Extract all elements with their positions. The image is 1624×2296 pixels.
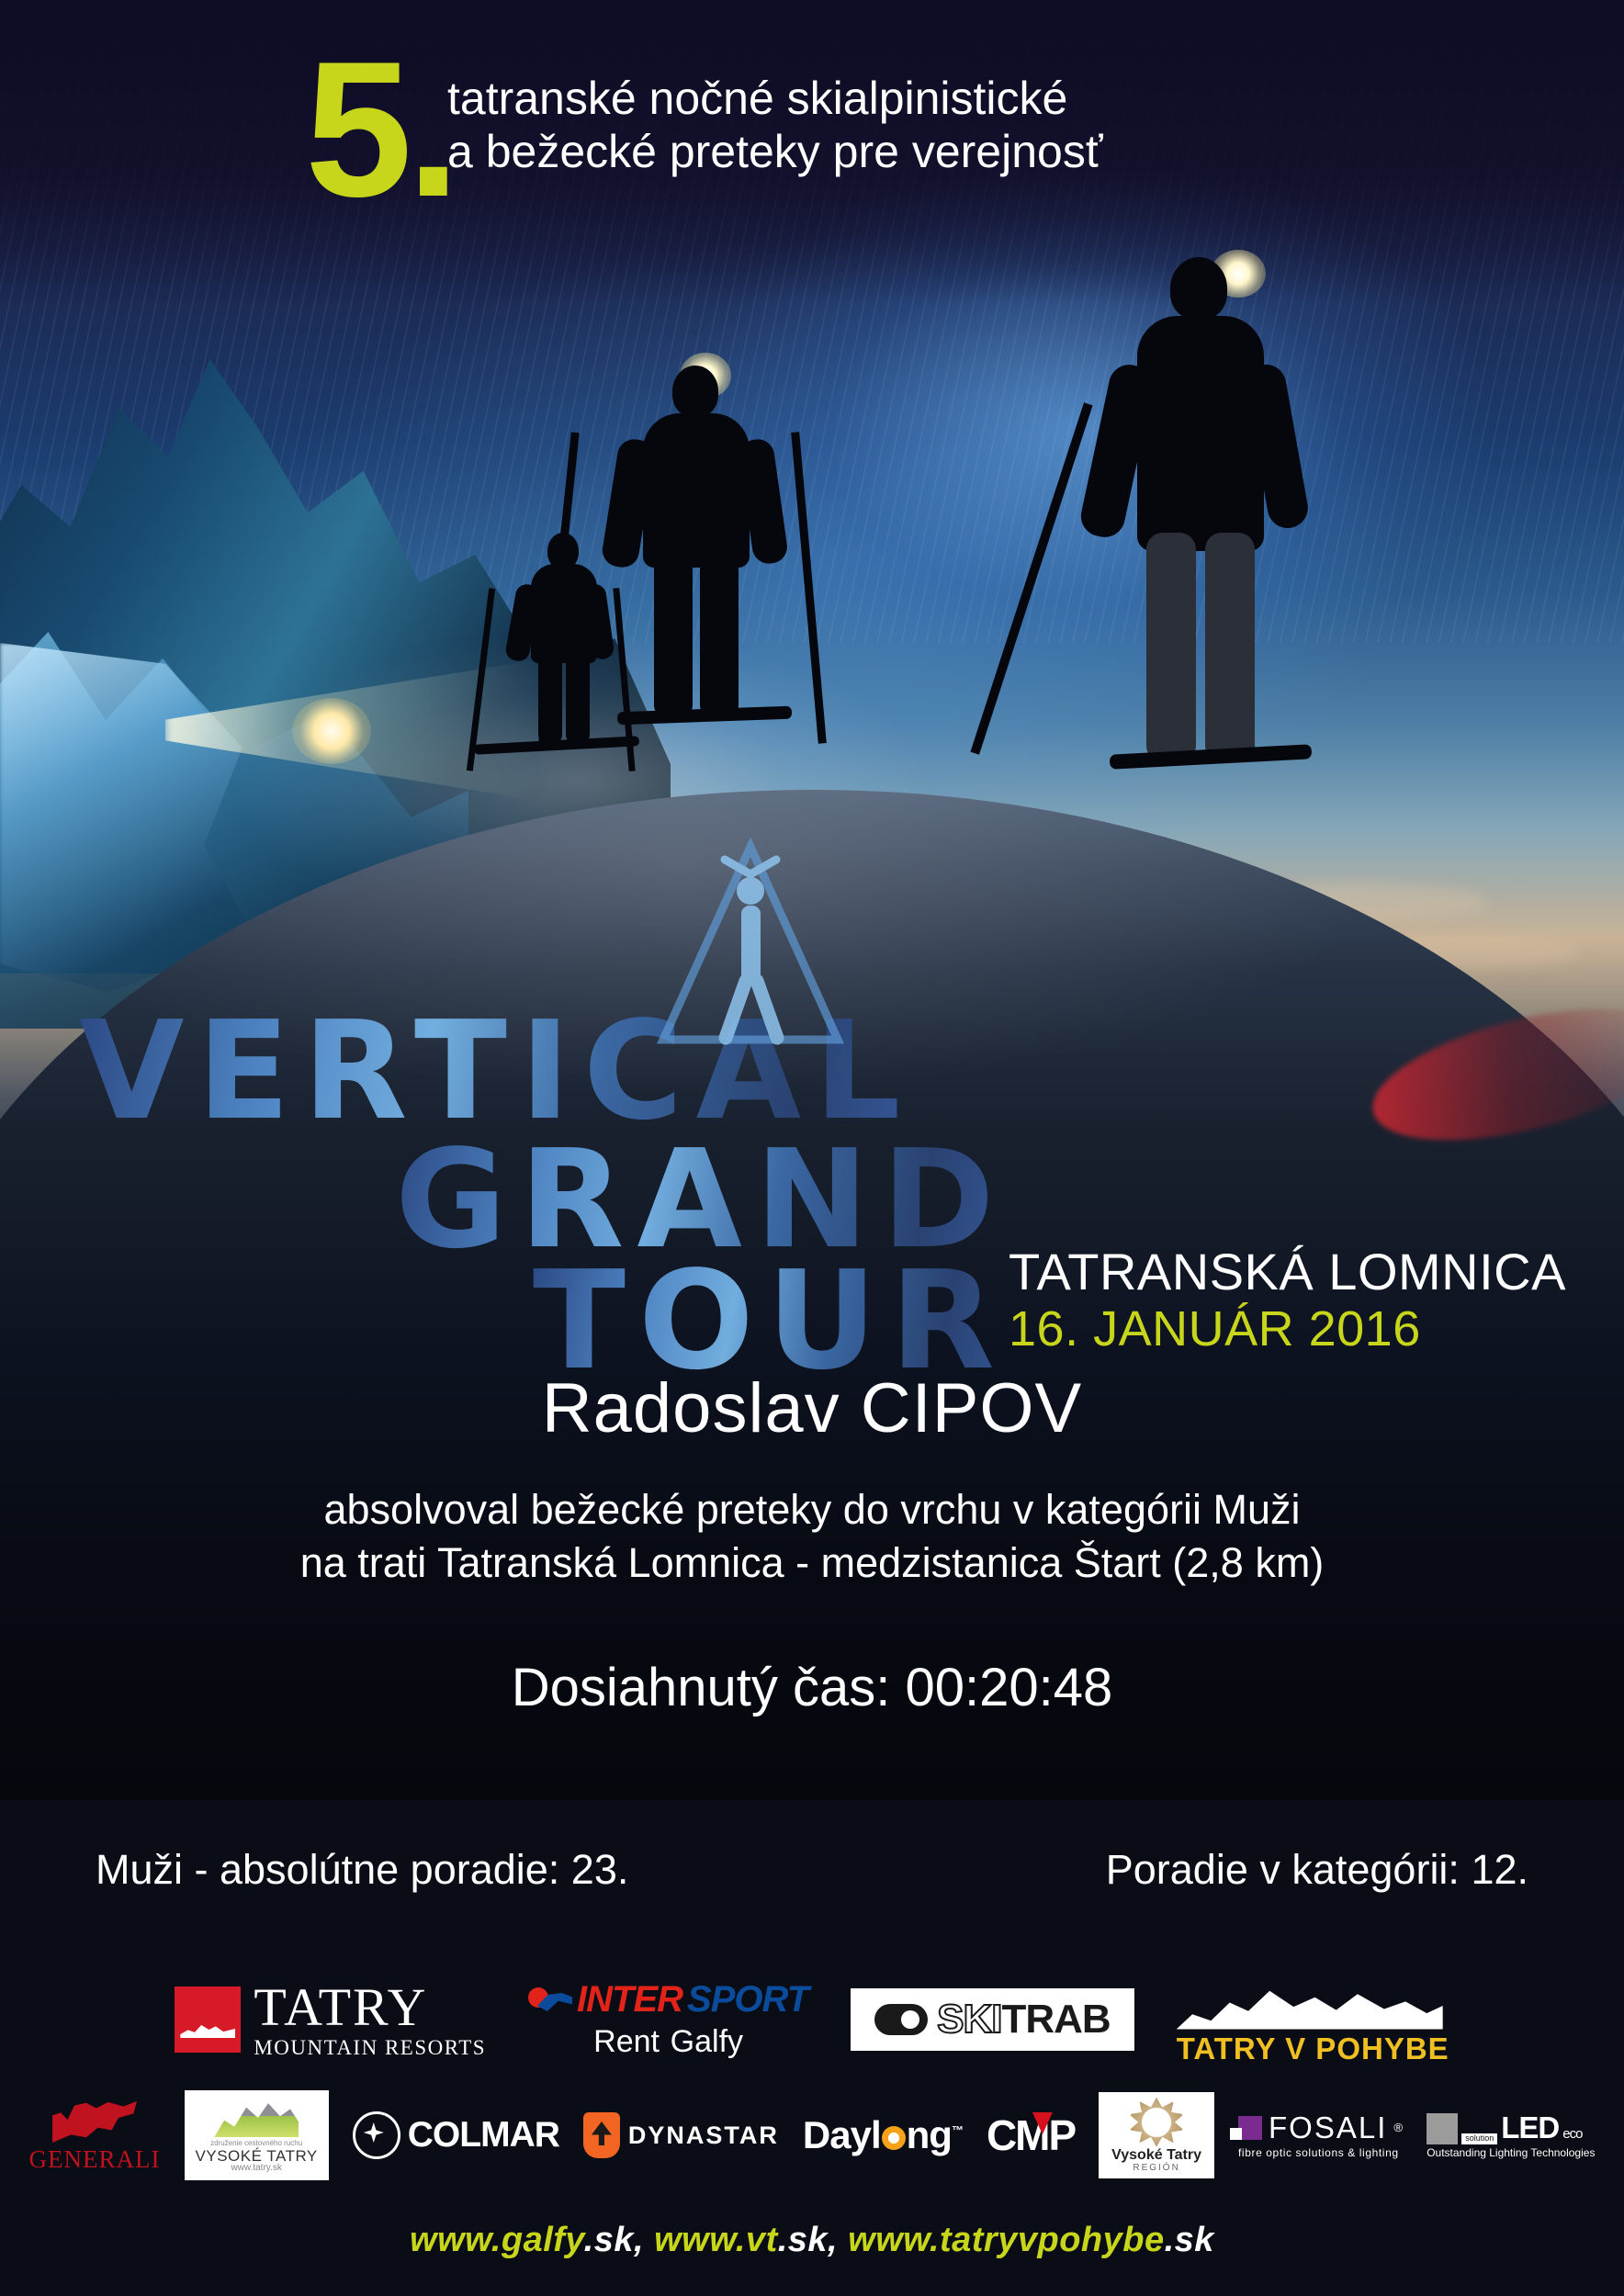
skitrab-ski: SKI bbox=[937, 1997, 1001, 2042]
colmar-title: COLMAR bbox=[408, 2115, 559, 2155]
athlete-name: Radoslav CIPOV bbox=[0, 1368, 1624, 1448]
edelweiss-icon bbox=[1128, 2098, 1185, 2147]
sponsor-generali[interactable]: GENERALI bbox=[29, 2099, 161, 2172]
site-tatryvpohybe-tld: .sk bbox=[1165, 2221, 1214, 2259]
tvp-mountain-icon bbox=[1177, 1976, 1443, 2030]
result-description-line-2: na trati Tatranská Lomnica - medzistanic… bbox=[0, 1536, 1624, 1590]
fosali-reg: ® bbox=[1393, 2122, 1403, 2135]
sponsor-led-eco[interactable]: solution LEDeco Outstanding Lighting Tec… bbox=[1427, 2111, 1595, 2159]
led-grey-square-icon bbox=[1427, 2113, 1458, 2144]
sponsor-intersport-rent-galfy[interactable]: INTERSPORT Rent Galfy bbox=[528, 1981, 808, 2058]
vtr-title: Vysoké Tatry bbox=[1111, 2147, 1201, 2164]
daylong-sun-icon bbox=[882, 2126, 906, 2150]
footer-websites: www.galfy.sk, www.vt.sk, www.tatryvpohyb… bbox=[0, 2221, 1624, 2260]
tmr-subtitle: MOUNTAIN RESORTS bbox=[254, 2037, 486, 2058]
sponsor-vysoke-tatry-region[interactable]: Vysoké Tatry REGIÓN bbox=[1099, 2092, 1214, 2179]
sponsor-colmar[interactable]: COLMAR bbox=[353, 2111, 559, 2159]
site-vt[interactable]: www.vt bbox=[654, 2221, 778, 2259]
sponsor-row-2: GENERALI združenie cestovného ruchu VYSO… bbox=[0, 2087, 1624, 2184]
intersport-swoosh-icon bbox=[528, 1987, 572, 2011]
headline: tatranské nočné skialpinistické a bežeck… bbox=[447, 72, 1329, 178]
sponsor-cmp[interactable]: CMP bbox=[987, 2110, 1075, 2160]
sponsor-vysoke-tatry[interactable]: združenie cestovného ruchu VYSOKÉ TATRY … bbox=[185, 2090, 329, 2180]
sponsor-ski-trab[interactable]: SKITRAB bbox=[851, 1988, 1134, 2051]
result-block: Radoslav CIPOV absolvoval bežecké pretek… bbox=[0, 1368, 1624, 1718]
rank-category: Poradie v kategórii: 12. bbox=[1106, 1846, 1528, 1894]
generali-title: GENERALI bbox=[29, 2147, 161, 2172]
headline-line-1: tatranské nočné skialpinistické bbox=[447, 72, 1329, 125]
headlamp-glow bbox=[292, 698, 371, 764]
sponsor-daylong[interactable]: Daylng™ bbox=[803, 2113, 963, 2157]
led-title: LED bbox=[1501, 2111, 1559, 2144]
dynastar-title: DYNASTAR bbox=[628, 2122, 779, 2150]
sponsor-tatry-v-pohybe[interactable]: TATRY V POHYBE bbox=[1177, 1976, 1449, 2064]
climber-triangle-mark bbox=[654, 838, 847, 1049]
intersport-inter: INTER bbox=[577, 1981, 682, 2018]
daylong-part-a: Dayl bbox=[803, 2113, 881, 2156]
event-location: TATRANSKÁ LOMNICA bbox=[1009, 1242, 1566, 1301]
skitrab-trab: TRAB bbox=[1001, 1997, 1110, 2042]
vysoke-tatry-url: www.tatry.sk bbox=[196, 2164, 318, 2174]
sponsor-row-1: TATRY MOUNTAIN RESORTS INTERSPORT Rent G… bbox=[0, 1965, 1624, 2074]
site-tatryvpohybe[interactable]: www.tatryvpohybe bbox=[848, 2221, 1164, 2259]
skitrab-logo-icon bbox=[874, 2004, 928, 2035]
fosali-subtitle: fibre optic solutions & lighting bbox=[1238, 2147, 1403, 2159]
vysoke-tatry-title: VYSOKÉ TATRY bbox=[196, 2148, 318, 2165]
rankings-row: Muži - absolútne poradie: 23. Poradie v … bbox=[0, 1846, 1624, 1894]
achieved-time: Dosiahnutý čas: 00:20:48 bbox=[0, 1657, 1624, 1718]
intersport-rent: Rent bbox=[593, 2024, 660, 2059]
dynastar-shield-icon bbox=[583, 2112, 620, 2158]
daylong-part-b: ng bbox=[907, 2113, 952, 2156]
intersport-galfy: Galfy bbox=[671, 2024, 743, 2059]
intersport-sport: SPORT bbox=[687, 1981, 808, 2018]
led-subtitle: Outstanding Lighting Technologies bbox=[1427, 2147, 1595, 2159]
site-vt-tld: .sk, bbox=[778, 2221, 848, 2259]
result-description: absolvoval bežecké preteky do vrchu v ka… bbox=[0, 1483, 1624, 1589]
headline-line-2: a bežecké preteky pre verejnosť bbox=[447, 125, 1329, 178]
daylong-tm: ™ bbox=[952, 2123, 963, 2137]
tmr-title: TATRY bbox=[254, 1981, 486, 2034]
fosali-title: FOSALI bbox=[1269, 2111, 1387, 2144]
fosali-square-icon bbox=[1238, 2116, 1262, 2140]
sponsor-tatry-mountain-resorts[interactable]: TATRY MOUNTAIN RESORTS bbox=[175, 1981, 486, 2058]
poster-root: 5. tatranské nočné skialpinistické a bež… bbox=[0, 0, 1624, 2296]
sponsor-area: TATRY MOUNTAIN RESORTS INTERSPORT Rent G… bbox=[0, 1965, 1624, 2184]
colmar-star-icon bbox=[353, 2111, 400, 2159]
result-description-line-1: absolvoval bežecké preteky do vrchu v ka… bbox=[0, 1483, 1624, 1536]
led-solution-label: solution bbox=[1461, 2133, 1497, 2144]
site-galfy[interactable]: www.galfy bbox=[410, 2221, 584, 2259]
rank-overall: Muži - absolútne poradie: 23. bbox=[96, 1846, 628, 1894]
sponsor-fosali[interactable]: FOSALI ® fibre optic solutions & lightin… bbox=[1238, 2111, 1403, 2158]
vysoke-tatry-mountain-icon bbox=[214, 2097, 299, 2137]
site-galfy-tld: .sk, bbox=[584, 2221, 654, 2259]
led-eco-label: eco bbox=[1562, 2126, 1582, 2142]
cmp-title: CMP bbox=[987, 2111, 1075, 2159]
vtr-subtitle: REGIÓN bbox=[1111, 2163, 1201, 2173]
edition-number: 5. bbox=[305, 33, 455, 226]
generali-lion-icon bbox=[52, 2099, 137, 2143]
event-date: 16. JANUÁR 2016 bbox=[1009, 1300, 1421, 1357]
sponsor-dynastar[interactable]: DYNASTAR bbox=[583, 2112, 779, 2158]
tvp-title: TATRY V POHYBE bbox=[1177, 2033, 1449, 2064]
tmr-mountain-icon bbox=[175, 1986, 241, 2053]
